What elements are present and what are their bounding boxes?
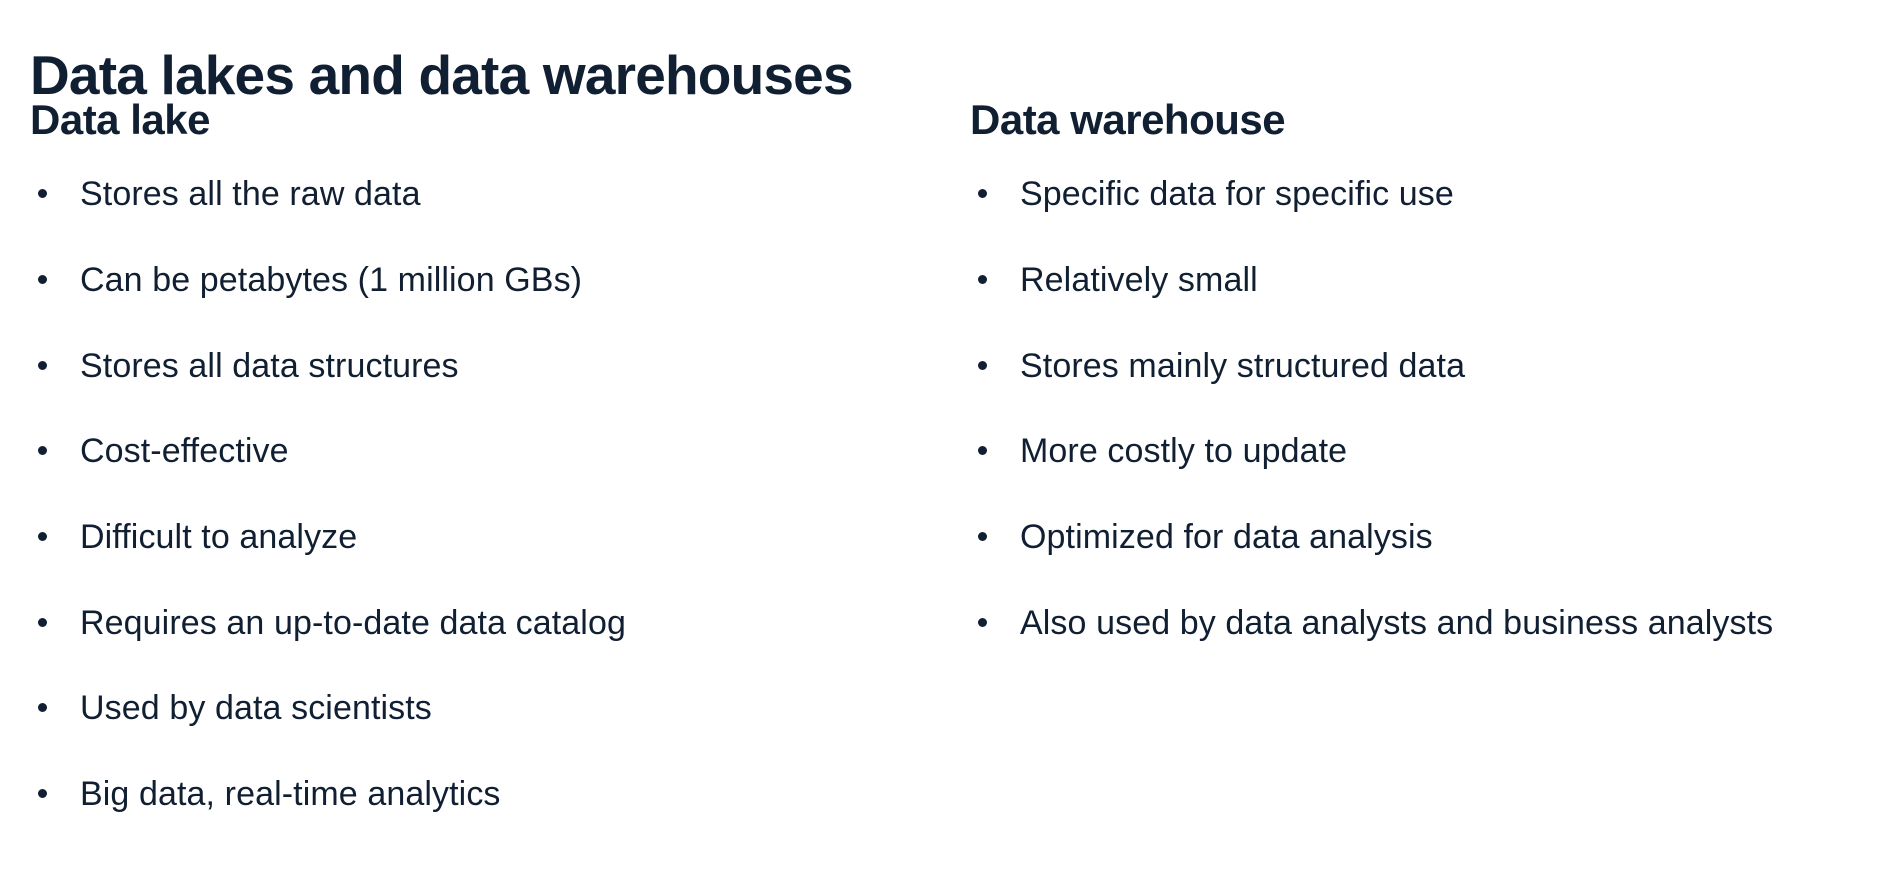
bullet-point-icon bbox=[38, 446, 47, 455]
list-item-label: Can be petabytes (1 million GBs) bbox=[80, 254, 970, 307]
list-item: Used by data scientists bbox=[30, 682, 970, 735]
bullet-point-icon bbox=[38, 789, 47, 798]
bullet-point-icon bbox=[978, 532, 987, 541]
list-item: Stores all the raw data bbox=[30, 168, 970, 221]
list-item-label: Used by data scientists bbox=[80, 682, 970, 735]
list-item-label: Difficult to analyze bbox=[80, 511, 970, 564]
comparison-columns: Data lake Stores all the raw data Can be… bbox=[0, 96, 1902, 821]
list-item-label: Stores all the raw data bbox=[80, 168, 970, 221]
list-item: Specific data for specific use bbox=[970, 168, 1902, 221]
list-item-label: Also used by data analysts and business … bbox=[1020, 597, 1880, 650]
bullet-point-icon bbox=[38, 618, 47, 627]
list-item-label: More costly to update bbox=[1020, 425, 1880, 478]
column-heading-data-lake: Data lake bbox=[30, 96, 970, 144]
list-item: More costly to update bbox=[970, 425, 1902, 478]
bullet-point-icon bbox=[978, 275, 987, 284]
list-item: Can be petabytes (1 million GBs) bbox=[30, 254, 970, 307]
list-item-label: Specific data for specific use bbox=[1020, 168, 1880, 221]
bullet-point-icon bbox=[38, 275, 47, 284]
list-item-label: Big data, real-time analytics bbox=[80, 768, 970, 821]
list-item: Stores mainly structured data bbox=[970, 340, 1902, 393]
slide-root: Data lakes and data warehouses Data lake… bbox=[0, 0, 1902, 876]
bullet-list-data-warehouse: Specific data for specific use Relativel… bbox=[970, 168, 1902, 649]
bullet-point-icon bbox=[38, 189, 47, 198]
list-item: Optimized for data analysis bbox=[970, 511, 1902, 564]
column-data-warehouse: Data warehouse Specific data for specifi… bbox=[970, 96, 1902, 649]
list-item-label: Stores all data structures bbox=[80, 340, 970, 393]
list-item-label: Requires an up-to-date data catalog bbox=[80, 597, 970, 650]
list-item-label: Relatively small bbox=[1020, 254, 1880, 307]
column-heading-data-warehouse: Data warehouse bbox=[970, 96, 1902, 144]
list-item: Relatively small bbox=[970, 254, 1902, 307]
list-item-label: Stores mainly structured data bbox=[1020, 340, 1880, 393]
bullet-point-icon bbox=[978, 361, 987, 370]
bullet-point-icon bbox=[38, 361, 47, 370]
list-item: Big data, real-time analytics bbox=[30, 768, 970, 821]
list-item: Also used by data analysts and business … bbox=[970, 597, 1902, 650]
list-item: Stores all data structures bbox=[30, 340, 970, 393]
bullet-point-icon bbox=[978, 446, 987, 455]
bullet-list-data-lake: Stores all the raw data Can be petabytes… bbox=[30, 168, 970, 821]
bullet-point-icon bbox=[978, 189, 987, 198]
bullet-point-icon bbox=[978, 618, 987, 627]
list-item-label: Cost-effective bbox=[80, 425, 970, 478]
bullet-point-icon bbox=[38, 703, 47, 712]
list-item-label: Optimized for data analysis bbox=[1020, 511, 1880, 564]
column-data-lake: Data lake Stores all the raw data Can be… bbox=[0, 96, 970, 821]
list-item: Requires an up-to-date data catalog bbox=[30, 597, 970, 650]
bullet-point-icon bbox=[38, 532, 47, 541]
list-item: Difficult to analyze bbox=[30, 511, 970, 564]
list-item: Cost-effective bbox=[30, 425, 970, 478]
